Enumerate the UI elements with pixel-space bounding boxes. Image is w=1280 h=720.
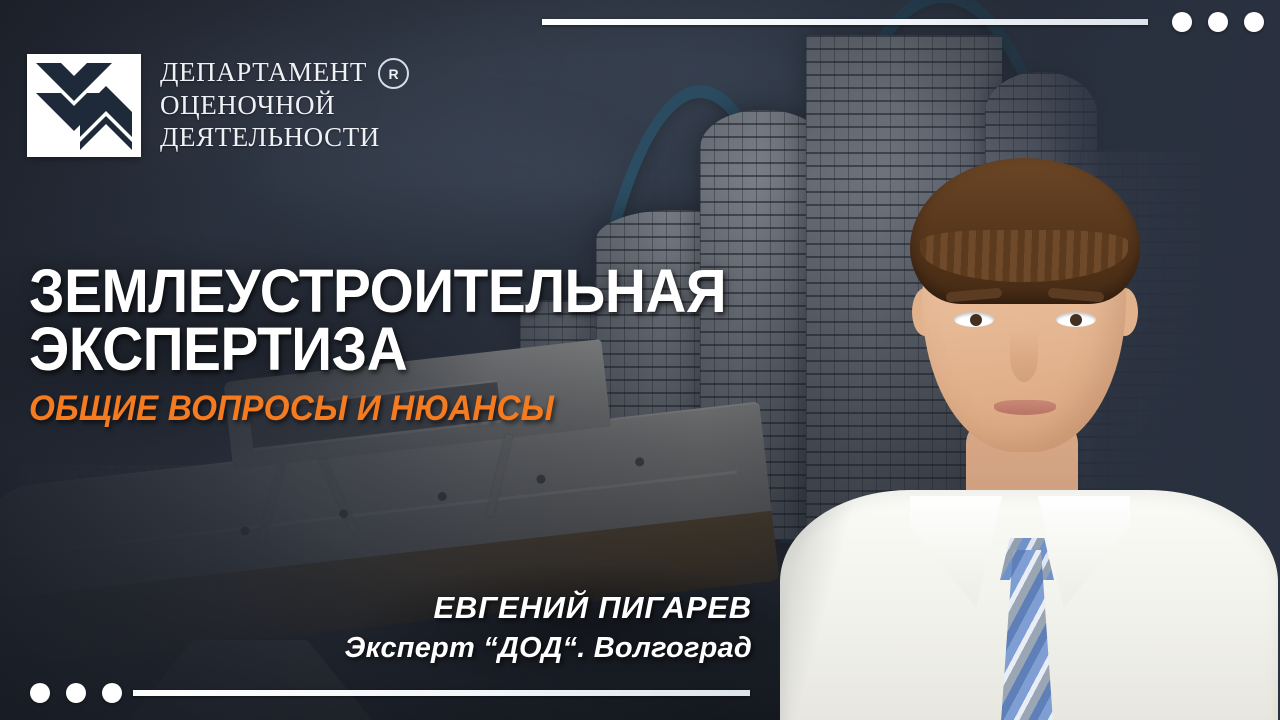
decor-dot (66, 683, 86, 703)
headline-block: ЗЕМЛЕУСТРОИТЕЛЬНАЯ ЭКСПЕРТИЗА ОБЩИЕ ВОПР… (29, 262, 829, 428)
chevron-mark-icon (27, 54, 141, 157)
decor-dot (102, 683, 122, 703)
decor-line-bottom (133, 690, 750, 696)
decor-dots-bottom (30, 683, 122, 703)
decor-dots-top (1172, 12, 1264, 32)
decor-dot (1244, 12, 1264, 32)
speaker-block: ЕВГЕНИЙ ПИГАРЕВ Эксперт “ДОД“. Волгоград (345, 590, 752, 665)
brand-name-line-3: ДЕЯТЕЛЬНОСТИ (160, 121, 409, 153)
portrait-mouth (994, 400, 1056, 415)
page-subtitle: ОБЩИЕ ВОПРОСЫ И НЮАНСЫ (29, 390, 789, 428)
registered-trademark-icon: R (378, 58, 409, 89)
speaker-role: Эксперт “ДОД“. Волгоград (345, 631, 752, 665)
decor-dot (1208, 12, 1228, 32)
brand-name-line-1: ДЕПАРТАМЕНТ (160, 56, 367, 88)
portrait-nose (1010, 330, 1038, 382)
webinar-title-card: ДЕПАРТАМЕНТ R ОЦЕНОЧНОЙ ДЕЯТЕЛЬНОСТИ ЗЕМ… (0, 0, 1280, 720)
decor-dot (30, 683, 50, 703)
decor-line-top (542, 19, 1148, 25)
brand-name-line-2: ОЦЕНОЧНОЙ (160, 89, 409, 121)
portrait-pupil-left (970, 314, 982, 326)
brand-name: ДЕПАРТАМЕНТ R ОЦЕНОЧНОЙ ДЕЯТЕЛЬНОСТИ (160, 54, 409, 153)
page-title: ЗЕМЛЕУСТРОИТЕЛЬНАЯ ЭКСПЕРТИЗА (29, 262, 773, 378)
decor-dot (1172, 12, 1192, 32)
speaker-name: ЕВГЕНИЙ ПИГАРЕВ (345, 590, 752, 626)
brand-logo: ДЕПАРТАМЕНТ R ОЦЕНОЧНОЙ ДЕЯТЕЛЬНОСТИ (27, 54, 409, 157)
speaker-portrait (770, 118, 1280, 720)
portrait-pupil-right (1070, 314, 1082, 326)
